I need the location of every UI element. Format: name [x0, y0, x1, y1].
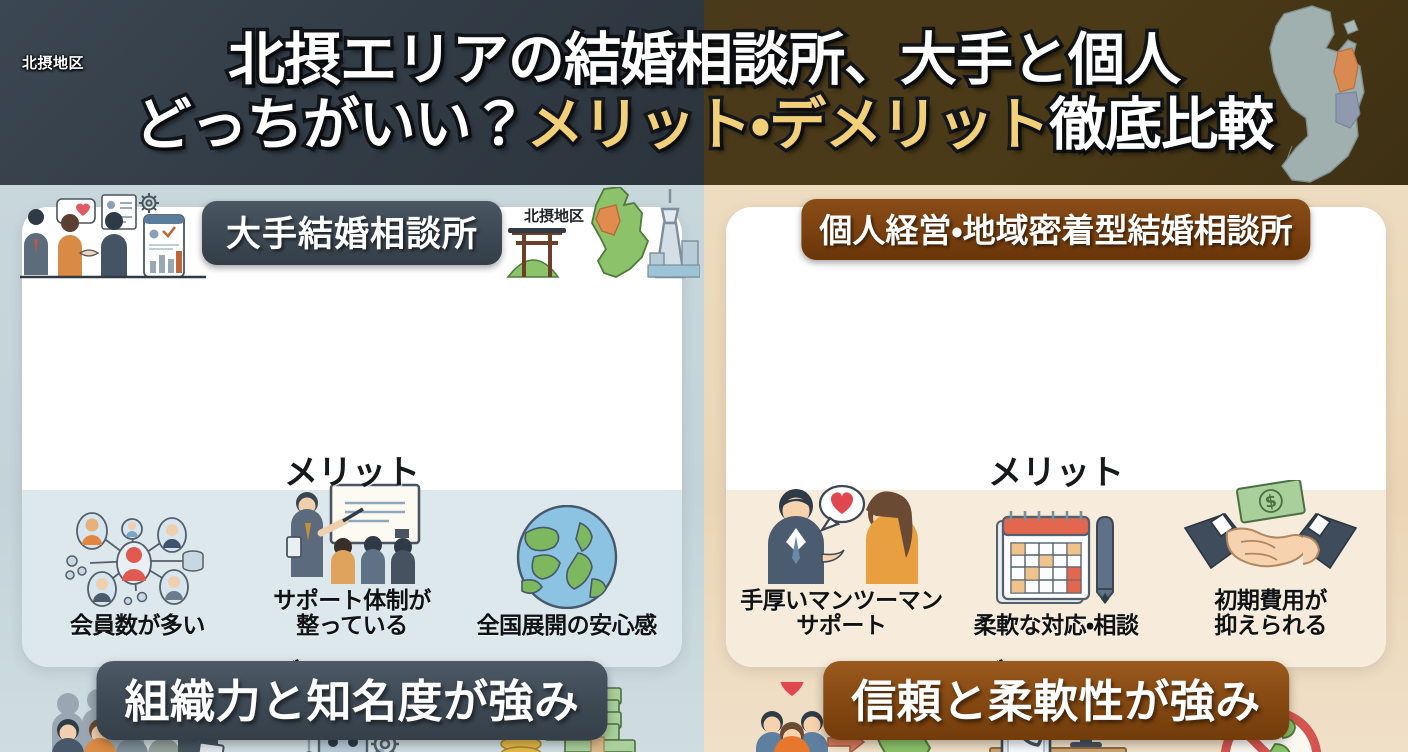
left-map-label: 北摂地区 [524, 205, 584, 226]
couple-heart-talk-icon [752, 479, 930, 584]
calendar-pen-icon [981, 504, 1131, 609]
panel-personal-agency: 個人経営・地域密着型結婚相談所 メリット [704, 185, 1408, 752]
left-merit-caption-2: サポート体制が 整っている [273, 589, 431, 641]
right-panel-badge: 個人経営・地域密着型結婚相談所 [801, 199, 1310, 260]
left-merit-item-1: 会員数が多い [31, 504, 244, 640]
right-panel-banner: 信頼と柔軟性が強み [823, 661, 1289, 740]
right-merit-item-2: 柔軟な対応・相談 [950, 504, 1163, 640]
title-line1: 北摂エリアの結婚相談所、大手と個人 [228, 27, 1180, 93]
japan-region-landmark-icon [500, 187, 700, 279]
left-merit-item-3: 全国展開の安心感 [460, 504, 673, 640]
consultation-handshake-icon [18, 187, 208, 282]
header-title: 北摂エリアの結婚相談所、大手と個人 どっちがいい？メリット・デメリット徹底比較 [0, 0, 1408, 185]
right-merit-item-1: 手厚いマンツーマン サポート [735, 479, 948, 641]
left-merit-item-2: サポート体制が 整っている [246, 479, 459, 641]
comparison-columns: 北摂地区 [0, 185, 1408, 752]
right-merit-caption-2: 柔軟な対応・相談 [974, 614, 1139, 640]
network-members-icon [62, 504, 212, 609]
left-panel-banner: 組織力と知名度が強み [96, 661, 607, 740]
right-merit-row: 手厚いマンツーマン サポート [734, 475, 1378, 640]
left-merit-heading: メリット [284, 445, 420, 494]
title-line2-highlight: メリット・デメリット [527, 92, 1049, 158]
left-merit-row: 会員数が多い [30, 475, 674, 640]
right-merit-heading: メリット [988, 445, 1124, 494]
infographic-root: 北摂地区 北摂エリアの結婚相談所、大手と個人 どっちがいい？メリット・デメリット… [0, 0, 1408, 752]
right-merit-caption-1: 手厚いマンツーマン サポート [740, 589, 943, 641]
left-panel-badge: 大手結婚相談所 [202, 201, 502, 265]
panel-large-agency: 北摂地区 [0, 185, 704, 752]
right-merit-caption-3: 初期費用が 抑えられる [1214, 589, 1327, 641]
header-banner: 北摂地区 北摂エリアの結婚相談所、大手と個人 どっちがいい？メリット・デメリット… [0, 0, 1408, 185]
left-merit-caption-3: 全国展開の安心感 [477, 614, 657, 640]
handshake-money-icon: $ [1183, 479, 1358, 584]
title-line2-part2: 徹底比較 [1049, 92, 1273, 158]
globe-japan-icon [506, 504, 628, 609]
presentation-support-icon [277, 479, 427, 584]
left-merit-caption-1: 会員数が多い [70, 614, 205, 640]
right-merit-item-3: $ [1164, 479, 1377, 641]
title-line2-part1: どっちがいい？ [135, 92, 527, 158]
